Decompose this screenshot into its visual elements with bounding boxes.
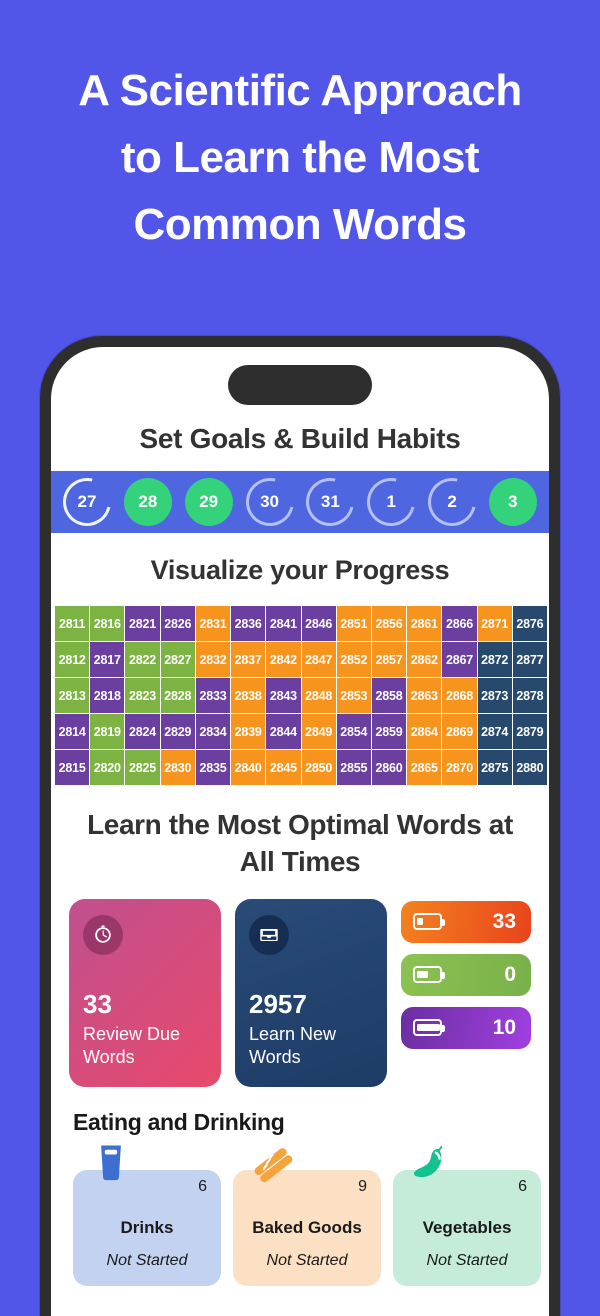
grid-cell-2858[interactable]: 2858 (372, 678, 406, 713)
grid-cell-2866[interactable]: 2866 (442, 606, 476, 641)
grid-cell-2814[interactable]: 2814 (55, 714, 89, 749)
stopwatch-icon (83, 915, 123, 955)
calendar-day-31[interactable]: 31 (306, 478, 354, 526)
grid-cell-2872[interactable]: 2872 (478, 642, 512, 677)
category-card-count: 9 (358, 1178, 367, 1196)
calendar-day-30[interactable]: 30 (246, 478, 294, 526)
category-card-vegetables[interactable]: 6VegetablesNot Started (393, 1170, 541, 1286)
category-card-status: Not Started (107, 1252, 188, 1270)
grid-cell-2833[interactable]: 2833 (196, 678, 230, 713)
grid-cell-2854[interactable]: 2854 (337, 714, 371, 749)
battery-fill (417, 1024, 440, 1031)
category-card-name: Baked Goods (252, 1218, 362, 1238)
phone-mockup: Set Goals & Build Habits 2728293031123 V… (40, 336, 560, 1316)
category-card-name: Drinks (121, 1218, 174, 1238)
grid-cell-2860[interactable]: 2860 (372, 750, 406, 785)
grid-cell-2856[interactable]: 2856 (372, 606, 406, 641)
calendar-day-1[interactable]: 1 (367, 478, 415, 526)
grid-cell-2828[interactable]: 2828 (161, 678, 195, 713)
battery-half-icon (413, 966, 442, 983)
progress-section-title: Visualize your Progress (51, 533, 549, 606)
grid-cell-2847[interactable]: 2847 (302, 642, 336, 677)
battery-fill (417, 971, 428, 978)
grid-cell-2861[interactable]: 2861 (407, 606, 441, 641)
grid-cell-2820[interactable]: 2820 (90, 750, 124, 785)
grid-cell-2829[interactable]: 2829 (161, 714, 195, 749)
calendar-day-label: 29 (199, 492, 218, 512)
grid-cell-2873[interactable]: 2873 (478, 678, 512, 713)
inbox-tray-icon (249, 915, 289, 955)
grid-cell-2827[interactable]: 2827 (161, 642, 195, 677)
grid-cell-2848[interactable]: 2848 (302, 678, 336, 713)
grid-cell-2830[interactable]: 2830 (161, 750, 195, 785)
grid-cell-2869[interactable]: 2869 (442, 714, 476, 749)
grid-cell-2815[interactable]: 2815 (55, 750, 89, 785)
grid-cell-2879[interactable]: 2879 (513, 714, 547, 749)
chili-pepper-icon (409, 1140, 453, 1184)
grid-cell-2859[interactable]: 2859 (372, 714, 406, 749)
grid-cell-2838[interactable]: 2838 (231, 678, 265, 713)
grid-cell-2864[interactable]: 2864 (407, 714, 441, 749)
headline-line-2: to Learn the Most (0, 125, 600, 192)
calendar-day-3[interactable]: 3 (489, 478, 537, 526)
stats-row: 33 Review Due Words 2957 Learn New Words… (51, 899, 549, 1087)
grid-cell-2819[interactable]: 2819 (90, 714, 124, 749)
headline-line-3: Common Words (0, 192, 600, 259)
grid-cell-2874[interactable]: 2874 (478, 714, 512, 749)
battery-pill-2[interactable]: 10 (401, 1007, 531, 1049)
battery-pill-value: 0 (504, 963, 516, 987)
grid-cell-2832[interactable]: 2832 (196, 642, 230, 677)
grid-cell-2817[interactable]: 2817 (90, 642, 124, 677)
battery-low-icon (413, 913, 442, 930)
battery-fill (417, 918, 423, 925)
grid-cell-2862[interactable]: 2862 (407, 642, 441, 677)
grid-cell-2840[interactable]: 2840 (231, 750, 265, 785)
category-card-status: Not Started (427, 1252, 508, 1270)
category-card-baked-goods[interactable]: 9Baked GoodsNot Started (233, 1170, 381, 1286)
grid-cell-2813[interactable]: 2813 (55, 678, 89, 713)
grid-cell-2851[interactable]: 2851 (337, 606, 371, 641)
calendar-day-29[interactable]: 29 (185, 478, 233, 526)
calendar-day-label: 31 (321, 492, 340, 512)
grid-cell-2841[interactable]: 2841 (266, 606, 300, 641)
learn-new-value: 2957 (249, 989, 373, 1020)
grid-cell-2865[interactable]: 2865 (407, 750, 441, 785)
review-due-label: Review Due Words (83, 1023, 207, 1069)
category-section-title: Eating and Drinking (51, 1087, 549, 1144)
headline-line-1: A Scientific Approach (0, 58, 600, 125)
grid-cell-2843[interactable]: 2843 (266, 678, 300, 713)
battery-pills: 33010 (401, 899, 531, 1087)
phone-notch (228, 365, 372, 405)
calendar-day-28[interactable]: 28 (124, 478, 172, 526)
grid-cell-2812[interactable]: 2812 (55, 642, 89, 677)
grid-cell-2836[interactable]: 2836 (231, 606, 265, 641)
grid-cell-2876[interactable]: 2876 (513, 606, 547, 641)
battery-pill-1[interactable]: 0 (401, 954, 531, 996)
grid-cell-2868[interactable]: 2868 (442, 678, 476, 713)
phone-screen: Set Goals & Build Habits 2728293031123 V… (51, 347, 549, 1316)
category-card-row[interactable]: 6DrinksNot Started9Baked GoodsNot Starte… (51, 1144, 549, 1286)
grid-cell-2855[interactable]: 2855 (337, 750, 371, 785)
grid-cell-2826[interactable]: 2826 (161, 606, 195, 641)
calendar-day-27[interactable]: 27 (63, 478, 111, 526)
grid-cell-2875[interactable]: 2875 (478, 750, 512, 785)
grid-cell-2849[interactable]: 2849 (302, 714, 336, 749)
grid-cell-2821[interactable]: 2821 (125, 606, 159, 641)
grid-cell-2852[interactable]: 2852 (337, 642, 371, 677)
optimal-section-title: Learn the Most Optimal Words at All Time… (51, 785, 549, 899)
grid-cell-2867[interactable]: 2867 (442, 642, 476, 677)
calendar-day-label: 30 (260, 492, 279, 512)
grid-cell-2818[interactable]: 2818 (90, 678, 124, 713)
review-due-value: 33 (83, 989, 207, 1020)
category-card-name: Vegetables (423, 1218, 512, 1238)
battery-pill-0[interactable]: 33 (401, 901, 531, 943)
grid-cell-2834[interactable]: 2834 (196, 714, 230, 749)
grid-cell-2823[interactable]: 2823 (125, 678, 159, 713)
review-due-card[interactable]: 33 Review Due Words (69, 899, 221, 1087)
grid-cell-2837[interactable]: 2837 (231, 642, 265, 677)
category-card-count: 6 (518, 1178, 527, 1196)
grid-cell-2844[interactable]: 2844 (266, 714, 300, 749)
battery-pill-value: 10 (493, 1016, 516, 1040)
grid-cell-2853[interactable]: 2853 (337, 678, 371, 713)
category-card-drinks[interactable]: 6DrinksNot Started (73, 1170, 221, 1286)
grid-cell-2842[interactable]: 2842 (266, 642, 300, 677)
battery-full-icon (413, 1019, 442, 1036)
battery-pill-value: 33 (493, 910, 516, 934)
calendar-day-label: 2 (447, 492, 456, 512)
grid-cell-2878[interactable]: 2878 (513, 678, 547, 713)
grid-cell-2845[interactable]: 2845 (266, 750, 300, 785)
calendar-day-2[interactable]: 2 (428, 478, 476, 526)
learn-new-card[interactable]: 2957 Learn New Words (235, 899, 387, 1087)
optimal-title-line-1: Learn the Most Optimal Words (87, 809, 481, 840)
grid-cell-2877[interactable]: 2877 (513, 642, 547, 677)
grid-cell-2850[interactable]: 2850 (302, 750, 336, 785)
learn-new-label: Learn New Words (249, 1023, 373, 1069)
grid-cell-2835[interactable]: 2835 (196, 750, 230, 785)
calendar-day-label: 3 (508, 492, 517, 512)
calendar-day-label: 28 (138, 492, 157, 512)
grid-cell-2825[interactable]: 2825 (125, 750, 159, 785)
calendar-strip[interactable]: 2728293031123 (51, 471, 549, 533)
grid-cell-2824[interactable]: 2824 (125, 714, 159, 749)
calendar-day-label: 27 (78, 492, 97, 512)
page-headline: A Scientific Approach to Learn the Most … (0, 58, 600, 259)
category-card-count: 6 (198, 1178, 207, 1196)
bread-icon (249, 1140, 293, 1184)
grid-cell-2822[interactable]: 2822 (125, 642, 159, 677)
progress-grid[interactable]: 2811281628212826283128362841284628512856… (55, 606, 547, 785)
drinking-glass-icon (89, 1140, 133, 1184)
category-card-status: Not Started (267, 1252, 348, 1270)
grid-cell-2871[interactable]: 2871 (478, 606, 512, 641)
progress-grid-wrapper: 2811281628212826283128362841284628512856… (51, 606, 549, 785)
grid-cell-2857[interactable]: 2857 (372, 642, 406, 677)
grid-cell-2839[interactable]: 2839 (231, 714, 265, 749)
grid-cell-2831[interactable]: 2831 (196, 606, 230, 641)
calendar-day-label: 1 (386, 492, 395, 512)
grid-cell-2846[interactable]: 2846 (302, 606, 336, 641)
grid-cell-2880[interactable]: 2880 (513, 750, 547, 785)
grid-cell-2816[interactable]: 2816 (90, 606, 124, 641)
grid-cell-2811[interactable]: 2811 (55, 606, 89, 641)
grid-cell-2863[interactable]: 2863 (407, 678, 441, 713)
grid-cell-2870[interactable]: 2870 (442, 750, 476, 785)
